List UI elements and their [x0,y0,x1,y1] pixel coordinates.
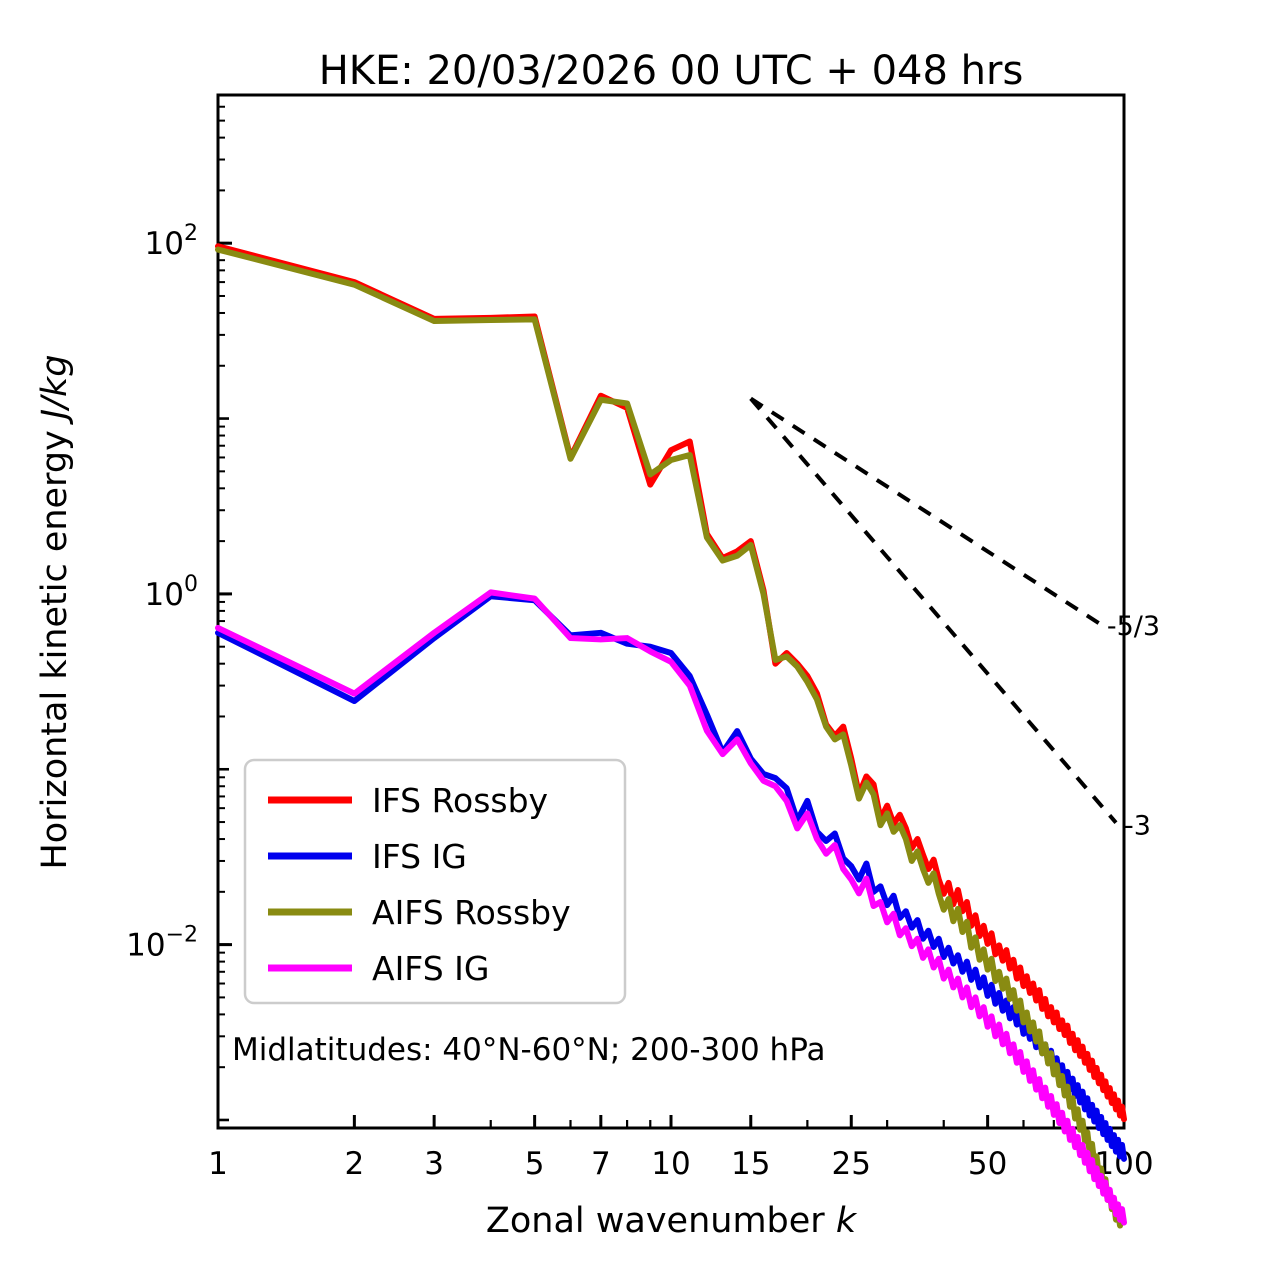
figure-canvas: HKE: 20/03/2026 00 UTC + 048 hrs 1235710… [0,0,1280,1288]
y-axis-label: Horizontal kinetic energy J/kg [35,354,75,869]
legend-label-aifs-rossby: AIFS Rossby [372,893,571,932]
x-tick-label: 5 [525,1146,545,1182]
x-tick-label: 2 [344,1146,364,1182]
x-tick-label: 25 [832,1146,871,1182]
x-tick-label: 10 [651,1146,690,1182]
x-tick-label: 3 [424,1146,444,1182]
slope-label--3: -3 [1124,811,1151,842]
x-axis-minor-ticks [218,1120,1124,1128]
chart-legend: IFS RossbyIFS IGAIFS RossbyAIFS IG [245,760,625,1003]
x-tick-label: 7 [591,1146,611,1182]
legend-label-aifs-ig: AIFS IG [372,949,489,988]
legend-label-ifs-rossby: IFS Rossby [372,781,548,820]
region-annotation: Midlatitudes: 40°N-60°N; 200-300 hPa [232,1032,826,1068]
slope-label--5-3: -5/3 [1107,611,1160,642]
x-tick-label: 50 [968,1146,1007,1182]
x-axis-label: Zonal wavenumber k [486,1201,858,1241]
x-tick-label: 1 [208,1146,228,1182]
x-tick-label: 15 [731,1146,770,1182]
legend-label-ifs-ig: IFS IG [372,837,467,876]
chart-title: HKE: 20/03/2026 00 UTC + 048 hrs [319,48,1024,94]
hke-spectrum-chart: HKE: 20/03/2026 00 UTC + 048 hrs 1235710… [0,0,1280,1288]
